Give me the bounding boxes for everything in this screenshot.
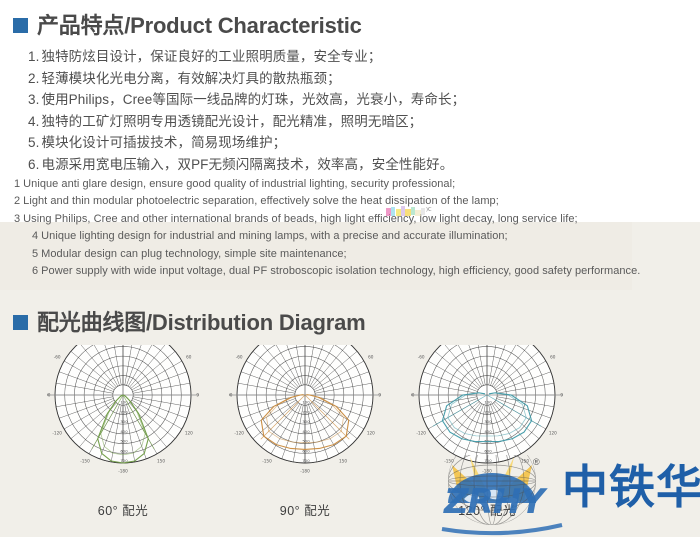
feature-text: Using Philips, Cree and other internatio… [23, 213, 577, 225]
feature-text: Modular design can plug technology, simp… [41, 248, 346, 260]
diagram-caption-60: 60°配光 [28, 500, 218, 519]
angle-tick-label: -120 [234, 431, 244, 436]
distribution-diagram-120: -180-150-120-90-60-300306090120150100200… [392, 345, 582, 519]
radial-tick-label: 200 [120, 409, 128, 414]
feature-number: 4 [32, 230, 38, 242]
radial-tick-label: 400 [302, 429, 310, 434]
radial-tick-label: 200 [302, 409, 310, 414]
beam-angle-label: 60° [98, 504, 118, 518]
radial-tick-label: 300 [120, 419, 128, 424]
angle-tick-label: 120 [367, 431, 375, 436]
angle-tick-label: -150 [262, 458, 272, 463]
feature-text: Unique lighting design for industrial an… [41, 230, 508, 242]
feature-text: 轻薄模块化光电分离，有效解决灯具的散热瓶颈； [41, 71, 340, 86]
polar-plot-60: -180-150-120-90-60-300306090120150100200… [47, 345, 199, 497]
feature-item-en: 3Using Philips, Cree and other internati… [14, 211, 700, 228]
feature-item-en: 2Light and thin modular photoelectric se… [14, 193, 700, 210]
feature-item-en: 5Modular design can plug technology, sim… [14, 246, 700, 263]
angle-tick-label: -180 [482, 469, 492, 474]
radial-tick-label: 500 [120, 439, 128, 444]
feature-item-en: 1Unique anti glare design, ensure good q… [14, 176, 700, 193]
radial-tick-label: 400 [484, 429, 492, 434]
feature-item-en: 4Unique lighting design for industrial a… [14, 228, 700, 245]
feature-list-chinese: 1.独特防炫目设计，保证良好的工业照明质量，安全专业；2.轻薄模块化光电分离，有… [28, 46, 678, 175]
angle-tick-label: -90 [47, 393, 51, 398]
beam-angle-label: 120° [458, 504, 486, 518]
section-title-diagram: 配光曲线图/Distribution Diagram [37, 305, 366, 337]
radial-tick-label: 600 [484, 448, 492, 453]
angle-tick-label: -90 [411, 393, 415, 398]
angle-tick-label: 120 [185, 431, 193, 436]
angle-tick-label: -90 [229, 393, 233, 398]
square-bullet-icon [13, 18, 28, 33]
feature-number: 4. [28, 114, 39, 129]
feature-text: 独特的工矿灯照明专用透镜配光设计，配光精准，照明无暗区； [41, 114, 422, 129]
feature-item-cn: 6.电源采用宽电压输入，双PF无频闪隔离技术，效率高，安全性能好。 [28, 154, 678, 176]
angle-tick-label: 150 [521, 458, 529, 463]
radial-tick-label: 100 [484, 400, 492, 405]
polar-plot-120: -180-150-120-90-60-300306090120150100200… [411, 345, 563, 497]
angle-tick-label: 60 [186, 355, 192, 360]
caption-suffix: 配光 [122, 504, 148, 518]
angle-tick-label: 150 [339, 458, 347, 463]
feature-number: 3. [28, 92, 39, 107]
caption-suffix: 配光 [490, 504, 516, 518]
angle-tick-label: -120 [52, 431, 62, 436]
feature-number: 2. [28, 71, 39, 86]
angle-tick-label: -60 [236, 355, 243, 360]
angle-tick-label: 120 [549, 431, 557, 436]
angle-tick-label: 150 [157, 458, 165, 463]
section-title-product: 产品特点/Product Characteristic [37, 8, 362, 40]
distribution-diagram-row: -180-150-120-90-60-300306090120150100200… [0, 345, 700, 537]
feature-number: 6. [28, 157, 39, 172]
angle-tick-label: -180 [300, 469, 310, 474]
beam-angle-label: 90° [280, 504, 300, 518]
polar-plot-90: -180-150-120-90-60-300306090120150100200… [229, 345, 381, 497]
feature-item-cn: 4.独特的工矿灯照明专用透镜配光设计，配光精准，照明无暗区； [28, 111, 678, 133]
radial-tick-label: 400 [120, 429, 128, 434]
angle-tick-label: -180 [118, 469, 128, 474]
feature-item-en: 6Power supply with wide input voltage, d… [14, 263, 700, 280]
radial-tick-label: 700 [484, 458, 492, 463]
page-root: 产品特点/Product Characteristic 1.独特防炫目设计，保证… [0, 0, 700, 537]
feature-number: 5. [28, 135, 39, 150]
angle-tick-label: 90 [560, 393, 563, 398]
feature-text: Unique anti glare design, ensure good qu… [23, 178, 455, 190]
feature-number: 3 [14, 213, 20, 225]
angle-tick-label: -150 [80, 458, 90, 463]
feature-number: 2 [14, 195, 20, 207]
radial-tick-label: 700 [302, 458, 310, 463]
feature-text: Light and thin modular photoelectric sep… [23, 195, 499, 207]
square-bullet-icon [13, 315, 28, 330]
section-header-diagram: 配光曲线图/Distribution Diagram [13, 305, 366, 337]
diagram-caption-90: 90°配光 [210, 500, 400, 519]
diagram-caption-120: 120°配光 [392, 500, 582, 519]
feature-text: 模块化设计可插拔技术，简易现场维护； [41, 135, 286, 150]
caption-suffix: 配光 [304, 504, 330, 518]
feature-list-english: 1Unique anti glare design, ensure good q… [14, 176, 700, 280]
section-header-product: 产品特点/Product Characteristic [13, 8, 362, 40]
angle-tick-label: 90 [196, 393, 199, 398]
feature-text: 使用Philips，Cree等国际一线品牌的灯珠，光效高，光衰小，寿命长； [41, 92, 465, 107]
feature-number: 5 [32, 248, 38, 260]
angle-tick-label: -120 [416, 431, 426, 436]
feature-item-cn: 1.独特防炫目设计，保证良好的工业照明质量，安全专业； [28, 46, 678, 68]
angle-tick-label: 90 [378, 393, 381, 398]
angle-tick-label: 60 [550, 355, 556, 360]
angle-tick-label: -150 [444, 458, 454, 463]
feature-number: 1. [28, 49, 39, 64]
feature-item-cn: 2.轻薄模块化光电分离，有效解决灯具的散热瓶颈； [28, 68, 678, 90]
radial-tick-label: 600 [120, 448, 128, 453]
angle-tick-label: -60 [54, 355, 61, 360]
feature-item-cn: 3.使用Philips，Cree等国际一线品牌的灯珠，光效高，光衰小，寿命长； [28, 89, 678, 111]
distribution-diagram-60: -180-150-120-90-60-300306090120150100200… [28, 345, 218, 519]
radial-tick-label: 300 [302, 419, 310, 424]
feature-number: 1 [14, 178, 20, 190]
angle-tick-label: -60 [418, 355, 425, 360]
feature-number: 6 [32, 265, 38, 277]
feature-text: 独特防炫目设计，保证良好的工业照明质量，安全专业； [41, 49, 381, 64]
radial-tick-label: 300 [484, 419, 492, 424]
feature-text: Power supply with wide input voltage, du… [41, 265, 640, 277]
radial-tick-label: 200 [484, 409, 492, 414]
radial-tick-label: 100 [302, 400, 310, 405]
angle-tick-label: 60 [368, 355, 374, 360]
feature-text: 电源采用宽电压输入，双PF无频闪隔离技术，效率高，安全性能好。 [41, 157, 453, 172]
feature-item-cn: 5.模块化设计可插拔技术，简易现场维护； [28, 132, 678, 154]
distribution-diagram-90: -180-150-120-90-60-300306090120150100200… [210, 345, 400, 519]
